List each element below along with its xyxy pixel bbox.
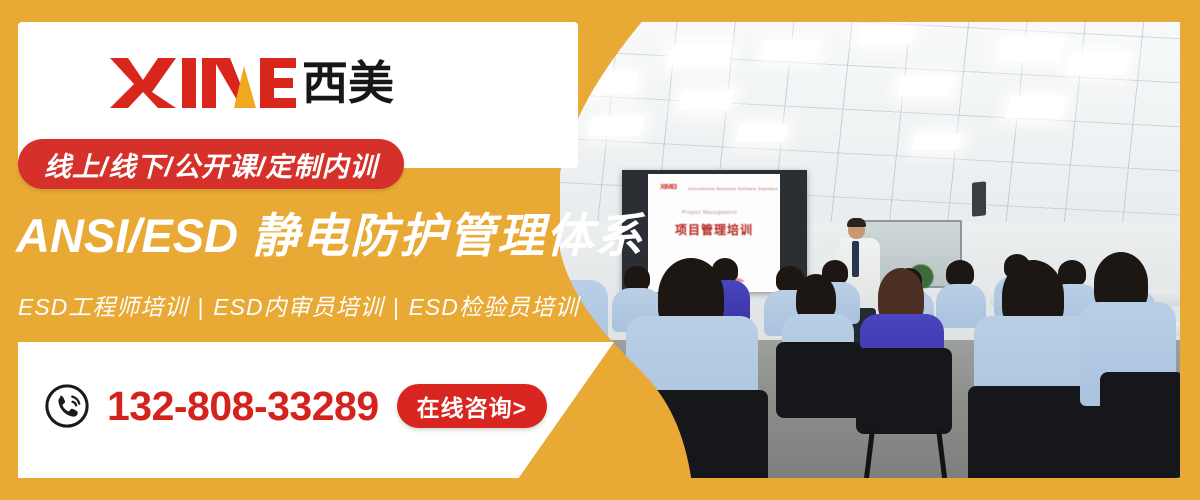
slide-logo: XIMEI: [660, 184, 677, 191]
logo-mark-ximei: [110, 54, 296, 112]
course-format-badge[interactable]: 线上/线下/公开课/定制内训: [18, 139, 404, 189]
chair: [776, 342, 862, 418]
slide-title-cn: 项目管理培训: [675, 221, 753, 238]
svg-text:西美: 西美: [302, 57, 394, 109]
attendee-head: [946, 260, 974, 286]
phone-number[interactable]: 132-808-33289: [107, 386, 379, 427]
slide-english-line: International Business Software Standard: [688, 186, 778, 191]
course-separator: |: [393, 294, 400, 320]
ceiling-light: [735, 124, 788, 142]
promo-banner: XIMEI International Business Software St…: [0, 0, 1200, 500]
ceiling-light: [897, 76, 955, 96]
phone-call-icon: [44, 383, 90, 429]
course-item-2: ESD内审员培训: [213, 294, 383, 320]
slide-subtitle-en: Project Management: [682, 210, 737, 216]
ceiling-light: [575, 72, 639, 94]
course-item-1: ESD工程师培训: [18, 294, 188, 320]
contact-row: 132-808-33289 在线咨询>: [44, 378, 547, 434]
course-separator: |: [197, 294, 204, 320]
frame-edge-bottom: [0, 478, 1200, 500]
photo-scene: XIMEI International Business Software St…: [560, 22, 1180, 478]
headline-en: ANSI/ESD: [16, 209, 238, 262]
ceiling-light: [857, 26, 914, 44]
course-list: ESD工程师培训|ESD内审员培训|ESD检验员培训: [18, 288, 579, 322]
ceiling-light: [761, 40, 821, 60]
frame-edge-top: [0, 0, 1200, 22]
online-consult-button[interactable]: 在线咨询>: [397, 384, 547, 428]
frame-edge-right: [1180, 0, 1200, 500]
ceiling-light: [912, 134, 963, 150]
attendee-head: [1058, 260, 1086, 286]
course-item-3: ESD检验员培训: [409, 294, 579, 320]
classroom-photo: XIMEI International Business Software St…: [560, 22, 1180, 478]
course-format-badge-label: 线上/线下/公开课/定制内训: [44, 145, 378, 184]
ceiling-light: [677, 90, 735, 110]
ceiling-light: [1067, 52, 1131, 74]
ceiling-light: [587, 116, 645, 136]
chair: [1100, 372, 1180, 478]
presenter-hair: [847, 218, 866, 227]
attendee-head: [624, 266, 650, 290]
chair: [856, 348, 952, 434]
page-title: ANSI/ESD静电防护管理体系: [16, 212, 644, 259]
chair: [620, 390, 768, 478]
headline-cn: 静电防护管理体系: [252, 209, 644, 262]
ceiling-light: [1005, 96, 1067, 118]
ceiling-light: [667, 44, 733, 66]
ximei-logo: 西美: [110, 52, 398, 114]
logo-mark-ximei-cn: 西美: [302, 57, 398, 109]
wall-speaker: [972, 181, 986, 216]
presenter-tie: [852, 241, 859, 277]
ceiling-light: [997, 38, 1066, 62]
